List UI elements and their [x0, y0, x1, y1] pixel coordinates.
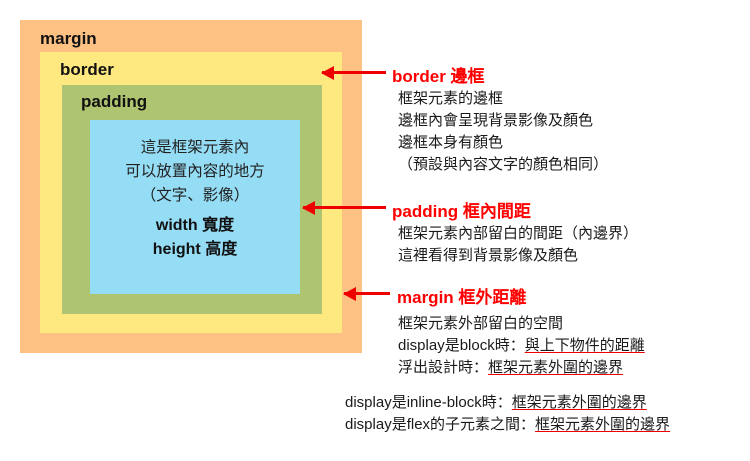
content-text-line-3: （文字、影像）	[90, 184, 300, 208]
margin-line-2-prefix: display是block時：	[398, 337, 525, 354]
padding-pointer-arrow-icon	[303, 206, 386, 209]
border-annotation-body: 框架元素的邊框 邊框內會呈現背景影像及顏色 邊框本身有顏色 （預設與內容文字的顏…	[398, 88, 608, 176]
margin-line-3-underlined: 框架元素外圍的邊界	[488, 359, 623, 376]
padding-annotation-body: 框架元素內部留白的間距（內邊界） 這裡看得到背景影像及顏色	[398, 223, 638, 267]
border-pointer-arrow-icon	[322, 71, 386, 74]
margin-line-5-prefix: display是flex的子元素之間：	[345, 416, 535, 433]
margin-pointer-arrow-icon	[344, 292, 390, 295]
content-width-label: width 寬度	[90, 214, 300, 238]
border-annotation-heading: border 邊框	[392, 62, 485, 87]
margin-annotation-line-5: display是flex的子元素之間：框架元素外圍的邊界	[345, 414, 670, 436]
content-box-text: 這是框架元素內 可以放置內容的地方 （文字、影像） width 寬度 heigh…	[90, 136, 300, 262]
margin-line-5-underlined: 框架元素外圍的邊界	[535, 416, 670, 433]
margin-box-label: margin	[40, 29, 97, 49]
border-annotation-line-1: 框架元素的邊框	[398, 88, 608, 110]
margin-annotation-line-4: display是inline-block時：框架元素外圍的邊界	[345, 392, 670, 414]
border-box-label: border	[60, 60, 114, 80]
padding-annotation-line-2: 這裡看得到背景影像及顏色	[398, 245, 638, 267]
padding-annotation-heading: padding 框內間距	[392, 197, 531, 222]
padding-annotation-line-1: 框架元素內部留白的間距（內邊界）	[398, 223, 638, 245]
margin-annotation-heading: margin 框外距離	[397, 283, 526, 308]
margin-line-4-underlined: 框架元素外圍的邊界	[512, 394, 647, 411]
margin-line-2-underlined: 與上下物件的距離	[525, 337, 645, 354]
border-annotation-line-3: 邊框本身有顏色	[398, 132, 608, 154]
margin-annotation-line-1: 框架元素外部留白的空間	[398, 313, 645, 335]
margin-line-3-prefix: 浮出設計時：	[398, 359, 488, 376]
margin-annotation-line-2: display是block時：與上下物件的距離	[398, 335, 645, 357]
margin-annotation-body: 框架元素外部留白的空間 display是block時：與上下物件的距離 浮出設計…	[398, 313, 645, 379]
border-annotation-line-2: 邊框內會呈現背景影像及顏色	[398, 110, 608, 132]
content-text-line-2: 可以放置內容的地方	[90, 160, 300, 184]
border-annotation-line-4: （預設與內容文字的顏色相同）	[398, 154, 608, 176]
content-height-label: height 高度	[90, 238, 300, 262]
margin-annotation-body-extra: display是inline-block時：框架元素外圍的邊界 display是…	[345, 392, 670, 436]
content-text-line-1: 這是框架元素內	[90, 136, 300, 160]
diagram-canvas: margin border padding 這是框架元素內 可以放置內容的地方 …	[0, 0, 750, 461]
margin-annotation-line-3: 浮出設計時：框架元素外圍的邊界	[398, 357, 645, 379]
padding-box-label: padding	[81, 92, 147, 112]
margin-line-4-prefix: display是inline-block時：	[345, 394, 512, 411]
